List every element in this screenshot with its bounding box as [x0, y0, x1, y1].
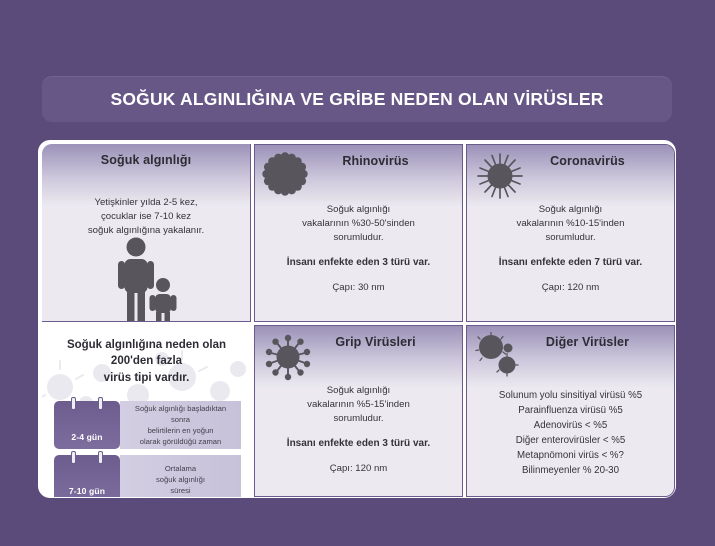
card-coronavirus: Coronavirüs Soğuk algınlığı vakalarının … — [466, 144, 675, 322]
card-coronavirus-diameter: Çapı: 120 nm — [477, 281, 664, 295]
list-item: Diğer enterovirüsler < %5 — [475, 433, 666, 448]
list-item: Bilinmeyenler % 20-30 — [475, 463, 666, 478]
card-common-cold: Soğuk algınlığı Yetişkinler yılda 2-5 ke… — [42, 144, 251, 322]
rhinovirus-icon — [262, 151, 308, 197]
card-rhinovirus-diameter: Çapı: 30 nm — [265, 281, 452, 295]
coronavirus-icon — [474, 151, 526, 201]
card-common-cold-title: Soğuk algınlığı — [42, 153, 250, 167]
poster-title: SOĞUK ALGINLIĞINA VE GRİBE NEDEN OLAN Vİ… — [110, 89, 603, 110]
virus-blobs-icon — [474, 332, 526, 382]
cards-board: Soğuk algınlığı Yetişkinler yılda 2-5 ke… — [38, 140, 676, 498]
card-coronavirus-types: İnsanı enfekte eden 7 türü var. — [477, 256, 664, 271]
duration-description: Soğuk algınlığı başladıktan sonra belirt… — [120, 401, 241, 449]
duration-row-peak: 2-4 gün Soğuk algınlığı başladıktan sonr… — [54, 401, 241, 449]
card-influenza-diameter: Çapı: 120 nm — [265, 462, 452, 476]
card-common-cold-text: Yetişkinler yılda 2-5 kez, çocuklar ise … — [52, 196, 240, 238]
duration-badge-label: 2-4 gün — [71, 432, 102, 442]
adult-and-child-icon — [42, 235, 250, 322]
virus-types-count-heading: Soğuk algınlığına neden olan 200'den faz… — [50, 337, 243, 386]
card-influenza: Grip Virüsleri Soğuk algınlığı vakaların… — [254, 325, 463, 497]
list-item: Solunum yolu sinsitiyal virüsü %5 — [475, 388, 666, 403]
calendar-icon-2-4-gun: 2-4 gün — [54, 401, 120, 449]
infographic-poster: SOĞUK ALGINLIĞINA VE GRİBE NEDEN OLAN Vİ… — [0, 0, 715, 546]
list-item: Metapnömoni virüs < %? — [475, 448, 666, 463]
influenza-virus-icon — [262, 332, 314, 382]
cards-grid: Soğuk algınlığı Yetişkinler yılda 2-5 ke… — [42, 144, 672, 494]
card-coronavirus-share: Soğuk algınlığı vakalarının %10-15'inden… — [477, 203, 664, 245]
card-virus-types-count: Soğuk algınlığına neden olan 200'den faz… — [42, 325, 251, 497]
list-item: Adenovirüs < %5 — [475, 418, 666, 433]
list-item: Parainfluenza virüsü %5 — [475, 403, 666, 418]
duration-row-average: 7-10 gün Ortalama soğuk algınlığı süresi — [54, 455, 241, 497]
poster-title-bar: SOĞUK ALGINLIĞINA VE GRİBE NEDEN OLAN Vİ… — [42, 76, 672, 122]
card-influenza-types: İnsanı enfekte eden 3 türü var. — [265, 437, 452, 452]
card-rhinovirus-types: İnsanı enfekte eden 3 türü var. — [265, 256, 452, 271]
card-rhinovirus-share: Soğuk algınlığı vakalarının %30-50'sinde… — [265, 203, 452, 245]
card-rhinovirus: Rhinovirüs Soğuk algınlığı vakalarının %… — [254, 144, 463, 322]
other-viruses-list: Solunum yolu sinsitiyal virüsü %5 Parain… — [475, 388, 666, 478]
card-influenza-share: Soğuk algınlığı vakalarının %5-15'inden … — [265, 384, 452, 426]
calendar-icon-7-10-gun: 7-10 gün — [54, 455, 120, 497]
card-other-viruses: Diğer Virüsler Solunum yolu sinsitiyal v… — [466, 325, 675, 497]
duration-description: Ortalama soğuk algınlığı süresi — [120, 455, 241, 497]
duration-badge-label: 7-10 gün — [69, 486, 105, 496]
